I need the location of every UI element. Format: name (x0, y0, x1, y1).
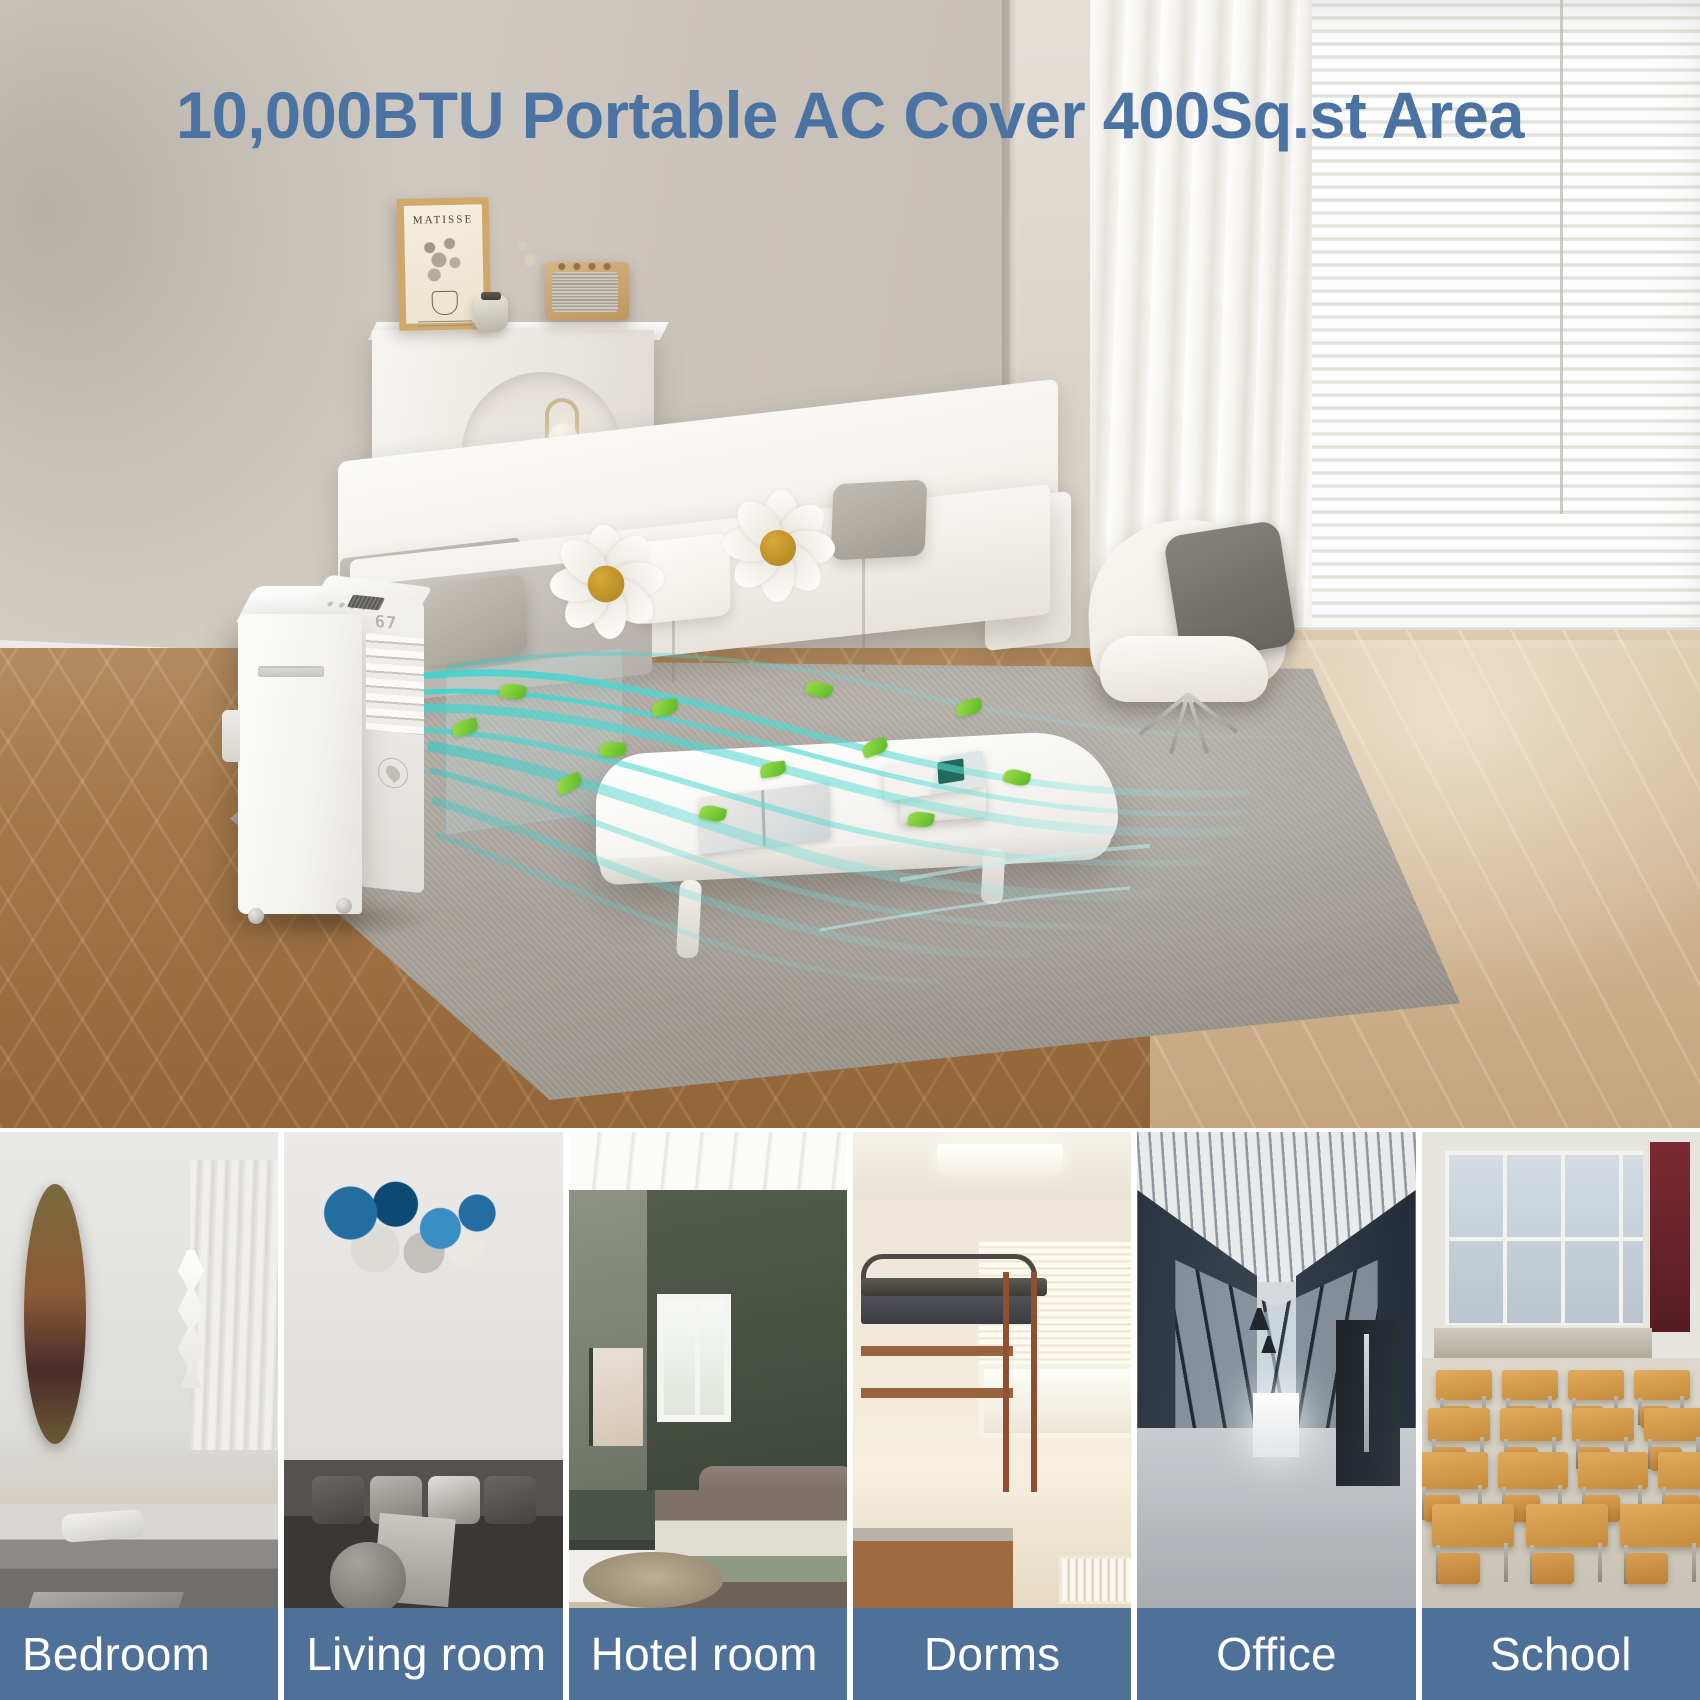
classroom-windows (1440, 1146, 1648, 1330)
round-woven-rug (583, 1552, 723, 1608)
tile-label-hotel-room: Hotel room (569, 1608, 847, 1700)
tile-dorms[interactable]: Dorms (853, 1132, 1131, 1700)
wooden-shelf (861, 1346, 1013, 1356)
poster-vase-outline (432, 291, 458, 316)
poster-caption-lines (418, 320, 472, 323)
bed-pillow (61, 1509, 145, 1543)
tile-bedroom[interactable]: Bedroom (0, 1132, 278, 1700)
hero-image: MATISSE 67 (0, 0, 1700, 1128)
desk-leg (1598, 1543, 1602, 1582)
tile-office[interactable]: Office (1137, 1132, 1415, 1700)
tile-label-living-room: Living room (284, 1608, 562, 1700)
school-chair (1532, 1553, 1575, 1584)
speaker-knobs (556, 263, 614, 270)
school-desk (1432, 1504, 1514, 1547)
speaker-grille (552, 272, 618, 312)
sofa-seam (862, 546, 865, 672)
corridor-vanishing-light (1253, 1393, 1299, 1457)
daisy-flower-pillow (547, 525, 665, 643)
office-refrigerator (1336, 1320, 1400, 1486)
gray-throw-pillow (831, 479, 928, 560)
leaning-framed-art (589, 1348, 643, 1446)
desk-leg (1692, 1543, 1696, 1582)
ac-temperature-display: 67 (368, 610, 404, 636)
ac-caster-wheel (248, 908, 264, 924)
school-desk (1526, 1504, 1608, 1547)
ceiling-light-panel (937, 1144, 1063, 1170)
school-chair (1438, 1553, 1481, 1584)
daisy-flower-pillow (721, 491, 835, 605)
tile-living-room[interactable]: Living room (284, 1132, 562, 1700)
school-desk (1620, 1504, 1700, 1547)
classroom-curtain (1650, 1142, 1690, 1332)
poster-title: MATISSE (404, 213, 482, 227)
tile-school[interactable]: School (1422, 1132, 1700, 1700)
school-desk (1498, 1452, 1568, 1489)
round-pouf (330, 1542, 406, 1614)
sofa-cushion (484, 1476, 536, 1524)
ceramic-jar (474, 296, 508, 332)
school-desk (1658, 1452, 1700, 1489)
gray-throw-pillow (416, 573, 528, 668)
school-desk (1422, 1452, 1488, 1489)
ac-carry-handle (258, 666, 324, 677)
coffee-table-leg (981, 847, 1006, 904)
radiator (1059, 1556, 1131, 1604)
wooden-shelf (861, 1388, 1013, 1398)
desk-leg (1504, 1543, 1508, 1582)
dorm-desk (853, 1528, 1013, 1608)
lounge-chair-seat (1100, 636, 1268, 702)
tile-label-dorms: Dorms (853, 1608, 1131, 1700)
geometric-wall-sculpture (318, 1180, 522, 1290)
tile-label-bedroom: Bedroom (0, 1608, 278, 1700)
coffee-table-leg (676, 879, 702, 958)
school-desk (1578, 1452, 1648, 1489)
ac-caster-wheel (336, 898, 352, 914)
bedroom-curtain (190, 1160, 278, 1450)
tile-label-school: School (1422, 1608, 1700, 1700)
tile-label-office: Office (1137, 1608, 1415, 1700)
ac-air-louvers (366, 633, 424, 735)
oval-wall-art (24, 1184, 86, 1444)
hotel-window (657, 1294, 731, 1422)
page-title: 10,000BTU Portable AC Cover 400Sq.st Are… (13, 72, 1688, 158)
school-desk (1644, 1408, 1700, 1441)
classroom-window-sill (1434, 1328, 1652, 1358)
lounge-chair-star-base (1126, 694, 1252, 758)
bunk-ladder (1003, 1272, 1037, 1492)
poster-botanical-illustration (418, 234, 469, 297)
tile-hotel-room[interactable]: Hotel room (569, 1132, 847, 1700)
school-chair (1626, 1553, 1669, 1584)
sofa-cushion (312, 1476, 364, 1524)
ac-side-vent (222, 710, 240, 762)
portable-air-conditioner (238, 614, 362, 914)
ceramic-jar-lid (481, 292, 501, 300)
use-case-thumbnail-strip: Bedroom Living room Hotel room (0, 1132, 1700, 1700)
dorm-window (979, 1364, 1131, 1438)
